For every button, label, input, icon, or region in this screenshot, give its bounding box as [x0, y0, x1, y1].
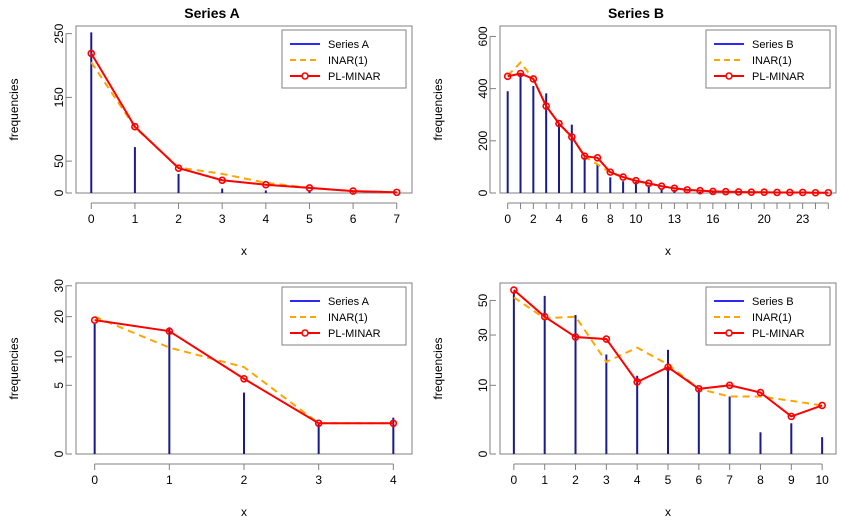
svg-text:3: 3 [603, 473, 610, 487]
chart-panel-top-left: Series A05015025001234567xfrequenciesSer… [0, 0, 424, 261]
svg-text:PL-MINAR: PL-MINAR [752, 328, 805, 340]
svg-text:frequencies: frequencies [7, 337, 21, 399]
svg-text:3: 3 [315, 473, 322, 487]
svg-text:4: 4 [262, 212, 269, 226]
svg-text:6: 6 [581, 212, 588, 226]
svg-text:Series B: Series B [752, 296, 794, 308]
svg-text:600: 600 [476, 26, 490, 46]
svg-text:10: 10 [815, 473, 829, 487]
svg-text:x: x [665, 505, 671, 519]
svg-text:0: 0 [52, 189, 66, 196]
svg-text:4: 4 [556, 212, 563, 226]
svg-text:x: x [241, 505, 247, 519]
svg-text:Series B: Series B [752, 39, 794, 51]
svg-text:2: 2 [241, 473, 248, 487]
svg-text:23: 23 [796, 212, 810, 226]
svg-text:30: 30 [476, 328, 490, 342]
svg-text:0: 0 [476, 189, 490, 196]
svg-text:8: 8 [757, 473, 764, 487]
svg-text:0: 0 [511, 473, 518, 487]
svg-text:4: 4 [634, 473, 641, 487]
svg-text:1: 1 [541, 473, 548, 487]
svg-text:1: 1 [132, 212, 139, 226]
svg-text:INAR(1): INAR(1) [752, 312, 792, 324]
svg-text:PL-MINAR: PL-MINAR [328, 328, 381, 340]
svg-text:400: 400 [476, 78, 490, 98]
svg-text:10: 10 [52, 350, 66, 364]
svg-text:PL-MINAR: PL-MINAR [328, 71, 381, 83]
svg-text:30: 30 [52, 279, 66, 293]
svg-text:8: 8 [607, 212, 614, 226]
svg-text:2: 2 [572, 473, 579, 487]
svg-text:9: 9 [788, 473, 795, 487]
svg-text:5: 5 [665, 473, 672, 487]
svg-text:2: 2 [530, 212, 537, 226]
svg-text:10: 10 [476, 378, 490, 392]
svg-text:0: 0 [476, 450, 490, 457]
svg-text:150: 150 [52, 87, 66, 107]
chart-panel-bottom-left: 0510203001234xfrequenciesSeries AINAR(1)… [0, 261, 424, 522]
panel-title: Series B [424, 2, 848, 24]
svg-text:frequencies: frequencies [7, 78, 21, 140]
svg-text:50: 50 [476, 293, 490, 307]
svg-text:0: 0 [91, 473, 98, 487]
svg-text:50: 50 [52, 154, 66, 168]
svg-text:0: 0 [52, 450, 66, 457]
svg-text:INAR(1): INAR(1) [328, 55, 368, 67]
svg-text:INAR(1): INAR(1) [752, 55, 792, 67]
svg-text:INAR(1): INAR(1) [328, 312, 368, 324]
svg-text:16: 16 [706, 212, 720, 226]
svg-text:20: 20 [758, 212, 772, 226]
svg-text:5: 5 [306, 212, 313, 226]
panel-title: Series A [0, 2, 424, 24]
svg-text:Series A: Series A [328, 296, 370, 308]
svg-text:6: 6 [695, 473, 702, 487]
svg-text:250: 250 [52, 23, 66, 43]
svg-text:3: 3 [219, 212, 226, 226]
svg-text:6: 6 [350, 212, 357, 226]
svg-text:10: 10 [629, 212, 643, 226]
svg-text:20: 20 [52, 310, 66, 324]
svg-text:frequencies: frequencies [431, 78, 445, 140]
svg-text:Series A: Series A [328, 39, 370, 51]
svg-text:1: 1 [166, 473, 173, 487]
svg-text:0: 0 [504, 212, 511, 226]
chart-panel-bottom-right: 0103050012345678910xfrequenciesSeries BI… [424, 261, 848, 522]
figure-grid: Series A05015025001234567xfrequenciesSer… [0, 0, 848, 522]
svg-text:200: 200 [476, 130, 490, 150]
svg-text:PL-MINAR: PL-MINAR [752, 71, 805, 83]
svg-text:7: 7 [393, 212, 400, 226]
svg-text:5: 5 [52, 382, 66, 389]
svg-text:0: 0 [88, 212, 95, 226]
chart-panel-top-right: Series B0200400600024681013162023xfreque… [424, 0, 848, 261]
svg-text:2: 2 [175, 212, 182, 226]
svg-text:7: 7 [726, 473, 733, 487]
svg-text:x: x [665, 244, 671, 258]
svg-text:x: x [241, 244, 247, 258]
svg-text:13: 13 [668, 212, 682, 226]
svg-text:frequencies: frequencies [431, 337, 445, 399]
svg-text:4: 4 [390, 473, 397, 487]
